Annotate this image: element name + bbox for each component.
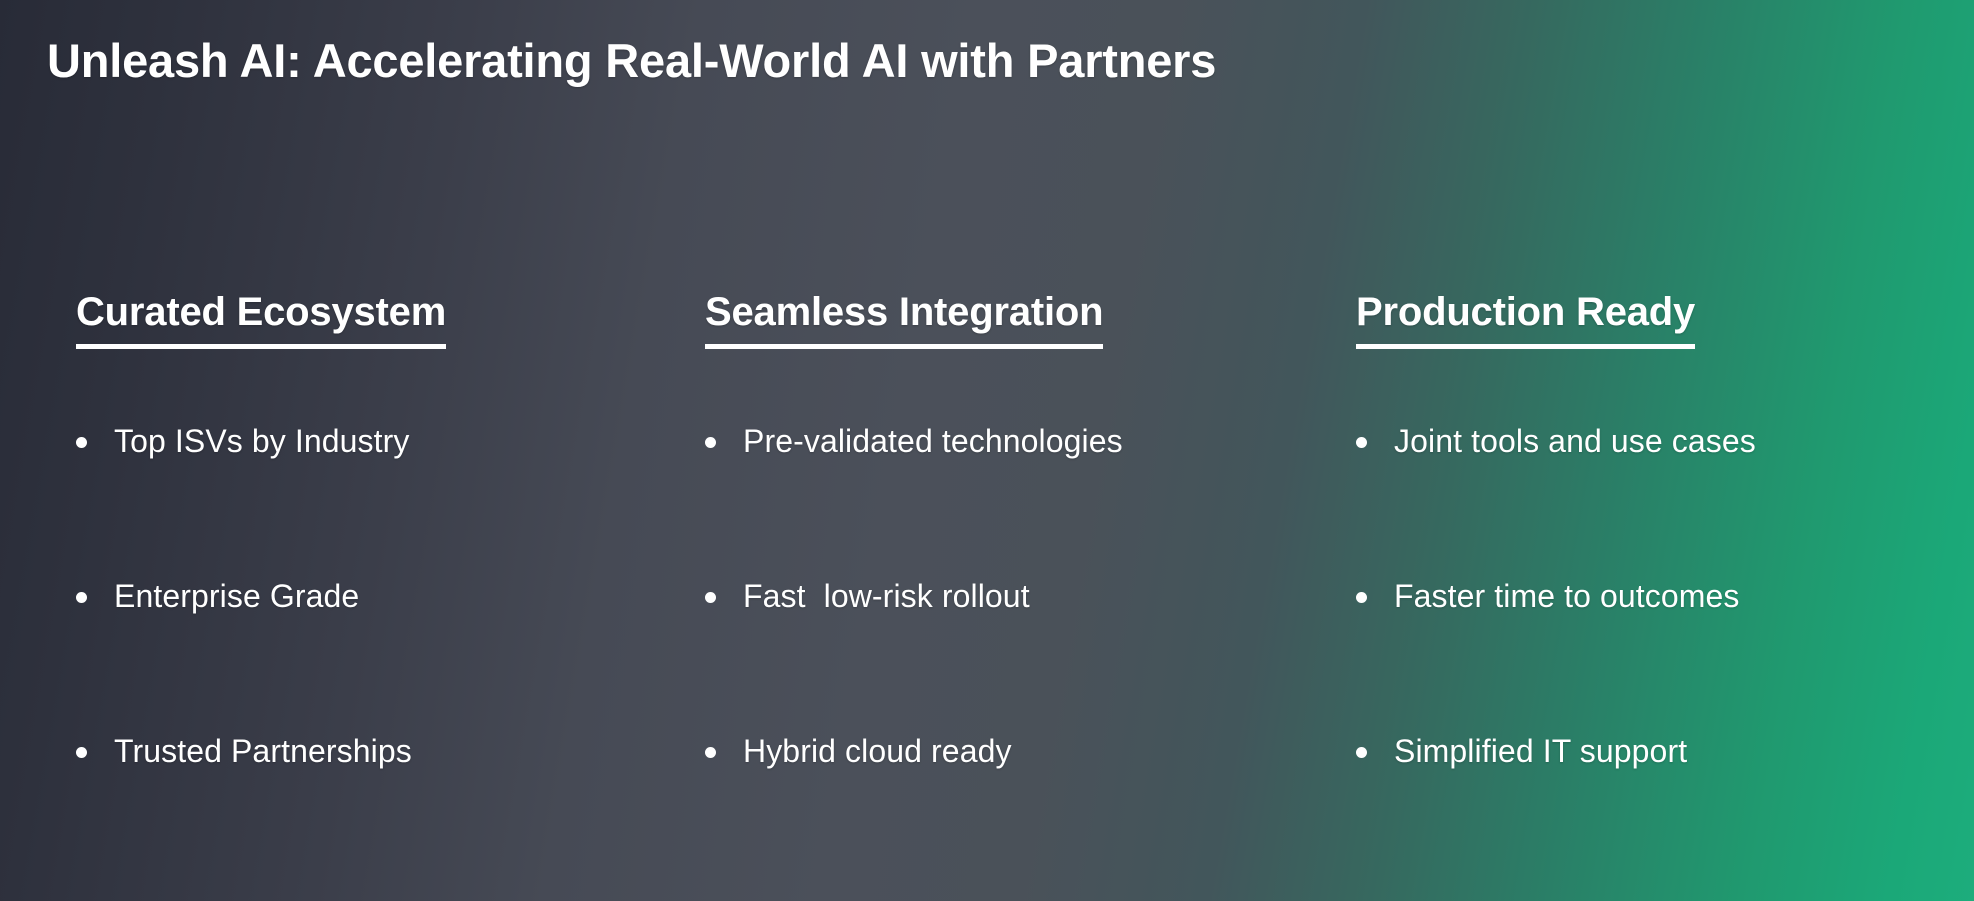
bullet-dot-icon [76, 747, 87, 758]
bullet-text: Top ISVs by Industry [114, 421, 409, 461]
list-item: Hybrid cloud ready [705, 731, 1296, 886]
columns-container: Curated Ecosystem Top ISVs by Industry E… [0, 290, 1974, 886]
bullet-dot-icon [1356, 437, 1367, 448]
list-item: Top ISVs by Industry [76, 421, 643, 576]
bullet-dot-icon [1356, 747, 1367, 758]
column-production-ready: Production Ready Joint tools and use cas… [1296, 290, 1974, 886]
bullet-text: Enterprise Grade [114, 576, 359, 616]
bullet-dot-icon [76, 437, 87, 448]
list-item: Pre-validated technologies [705, 421, 1296, 576]
list-item: Simplified IT support [1356, 731, 1974, 886]
list-item: Joint tools and use cases [1356, 421, 1974, 576]
list-item: Enterprise Grade [76, 576, 643, 731]
bullet-dot-icon [705, 592, 716, 603]
list-item: Faster time to outcomes [1356, 576, 1974, 731]
bullet-list-3: Joint tools and use cases Faster time to… [1356, 421, 1974, 886]
bullet-text: Faster time to outcomes [1394, 576, 1740, 616]
bullet-list-2: Pre-validated technologies Fast low-risk… [705, 421, 1296, 886]
bullet-dot-icon [705, 437, 716, 448]
bullet-dot-icon [705, 747, 716, 758]
bullet-text: Joint tools and use cases [1394, 421, 1756, 461]
column-curated-ecosystem: Curated Ecosystem Top ISVs by Industry E… [0, 290, 643, 886]
bullet-text: Hybrid cloud ready [743, 731, 1012, 771]
list-item: Fast low-risk rollout [705, 576, 1296, 731]
bullet-dot-icon [1356, 592, 1367, 603]
bullet-dot-icon [76, 592, 87, 603]
list-item: Trusted Partnerships [76, 731, 643, 886]
column-heading-2: Seamless Integration [705, 290, 1103, 349]
column-seamless-integration: Seamless Integration Pre-validated techn… [643, 290, 1296, 886]
column-heading-1: Curated Ecosystem [76, 290, 446, 349]
slide-title: Unleash AI: Accelerating Real-World AI w… [47, 34, 1216, 88]
bullet-text: Fast low-risk rollout [743, 576, 1030, 616]
presentation-slide: Unleash AI: Accelerating Real-World AI w… [0, 0, 1974, 901]
bullet-list-1: Top ISVs by Industry Enterprise Grade Tr… [76, 421, 643, 886]
bullet-text: Simplified IT support [1394, 731, 1687, 771]
bullet-text: Trusted Partnerships [114, 731, 412, 771]
column-heading-3: Production Ready [1356, 290, 1695, 349]
bullet-text: Pre-validated technologies [743, 421, 1123, 461]
